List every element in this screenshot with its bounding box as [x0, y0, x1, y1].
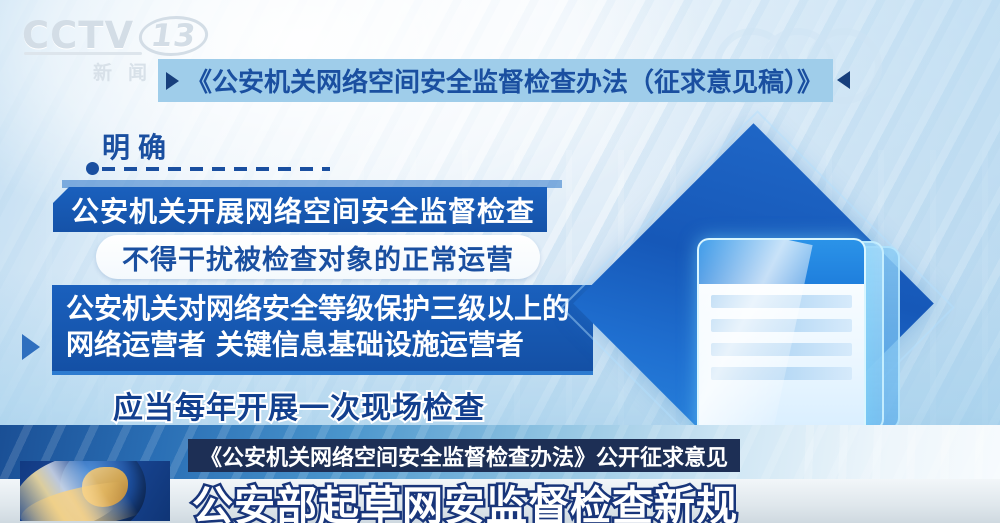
lower-third-right-panels: [780, 425, 1000, 481]
document-text-line: [711, 343, 852, 356]
lower-third-headline: 公安部起草网安监督检查新规: [192, 472, 738, 523]
lower-third-kicker-strip: 《公安机关网络空间安全监督检查办法》公开征求意见: [188, 439, 740, 472]
point-2-line-3-text: 应当每年开展一次现场检查: [113, 383, 485, 427]
lower-third-kicker-text: 《公安机关网络空间安全监督检查办法》公开征求意见: [200, 440, 728, 472]
logo-channel-number: 13: [136, 16, 211, 56]
lower-third: 《公安机关网络空间安全监督检查办法》公开征求意见 公安部起草网安监督检查新规: [0, 425, 1000, 523]
section-label-dashed-rule: [102, 167, 330, 171]
triangle-right-icon: [166, 72, 179, 90]
broadcast-screen: CCTV 13 新闻 《公安机关网络空间安全监督检查办法（征求意见稿）》 明确 …: [0, 0, 1000, 523]
point-1-line-2-text: 不得干扰被检查对象的正常运营: [122, 238, 514, 277]
point-2-line-2-text: 网络运营者 关键信息基础设施运营者: [66, 327, 581, 363]
section-label-dot: [86, 162, 99, 175]
point-2-line-1-text: 公安机关对网络安全等级保护三级以上的: [66, 291, 581, 327]
title-band-text: 《公安机关网络空间安全监督检查办法（征求意见稿）》: [186, 62, 823, 99]
document-text-line: [711, 319, 852, 332]
document-stack-icon: [697, 238, 866, 437]
triangle-left-icon: [837, 71, 850, 89]
point-1-line-1-bar: 公安机关开展网络空间安全监督检查: [53, 187, 547, 232]
point-1-line-2-pill: 不得干扰被检查对象的正常运营: [96, 235, 540, 279]
document-diamond-graphic: [612, 168, 992, 458]
logo-wordmark: CCTV: [22, 16, 134, 56]
point-2-box: 公安机关对网络安全等级保护三级以上的 网络运营者 关键信息基础设施运营者: [52, 285, 593, 375]
document-text-line: [711, 295, 852, 308]
section-label-text: 明确: [102, 126, 174, 166]
globe-icon: [20, 461, 170, 521]
point-1-line-1-text: 公安机关开展网络空间安全监督检查: [71, 190, 535, 230]
section-label-group: 明确: [86, 126, 406, 174]
document-header-band: [699, 240, 864, 284]
document-text-line: [711, 367, 852, 380]
point-1-bar-accent: [62, 180, 562, 188]
point-2-triangle-icon: [22, 334, 40, 360]
headline-title-band: 《公安机关网络空间安全监督检查办法（征求意见稿）》: [158, 59, 833, 102]
